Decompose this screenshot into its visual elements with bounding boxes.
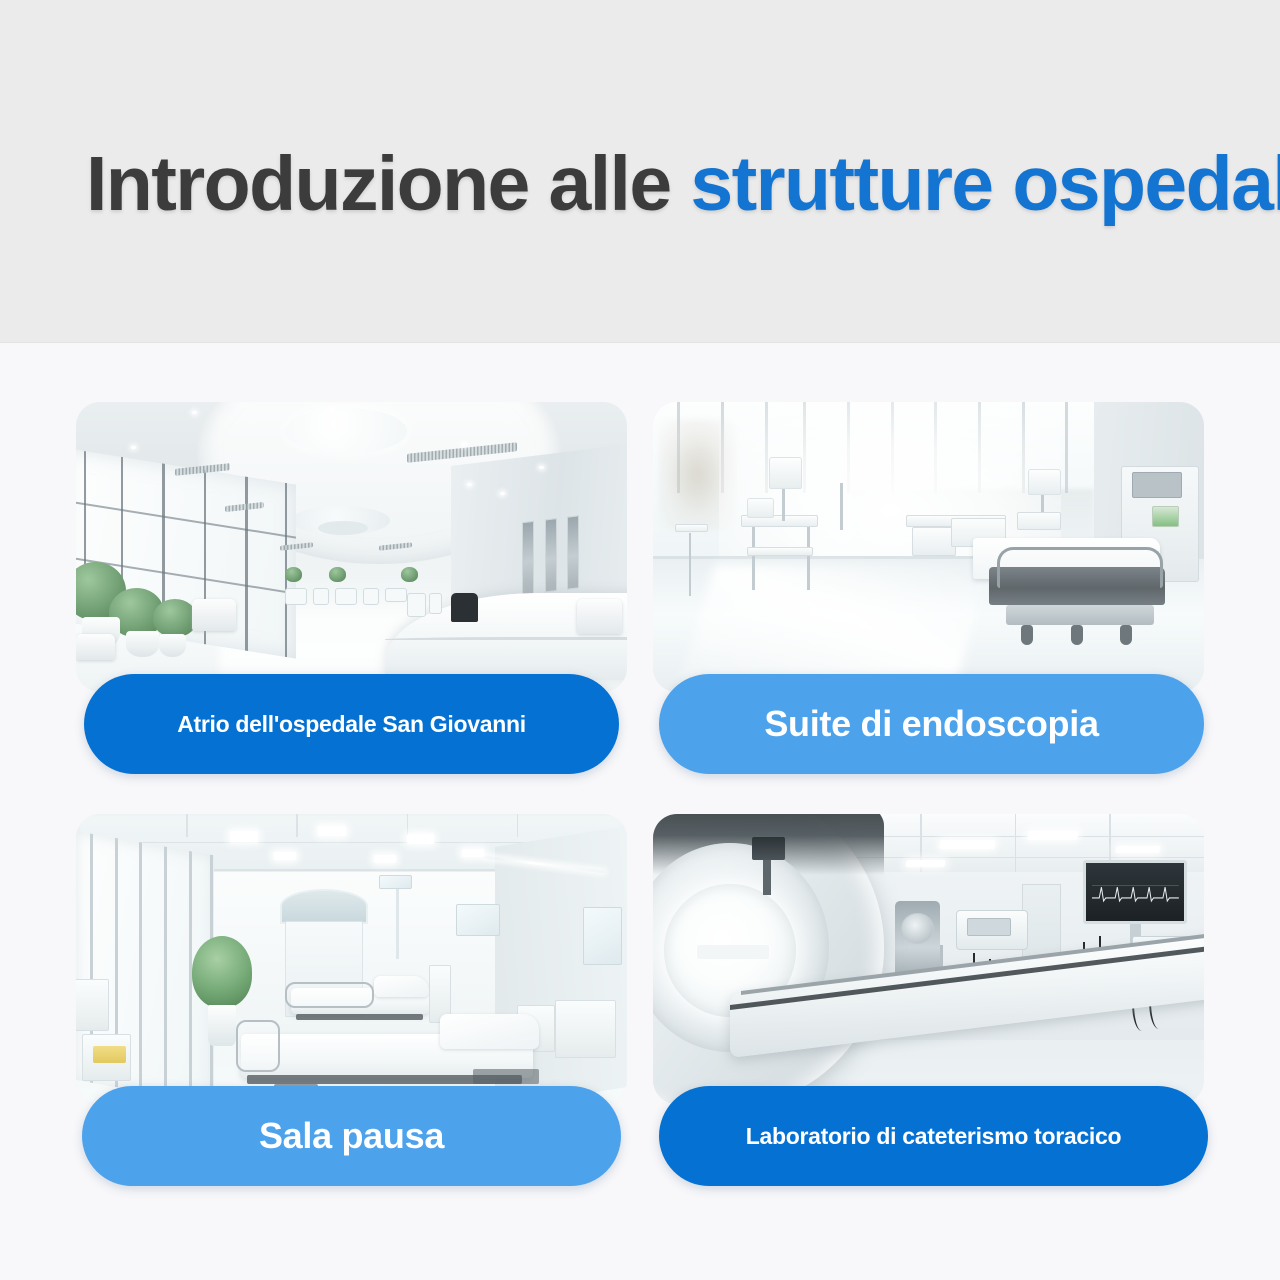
facility-label-pill[interactable]: Atrio dell'ospedale San Giovanni xyxy=(84,674,619,774)
ecg-waveform-icon xyxy=(1092,881,1179,904)
facility-label-text: Suite di endoscopia xyxy=(764,703,1098,745)
endoscopy-suite-photo xyxy=(653,402,1204,692)
facility-card-grid: Atrio dell'ospedale San Giovanni xyxy=(76,402,1204,1202)
facility-card[interactable]: Sala pausa xyxy=(76,814,627,1194)
break-room-photo xyxy=(76,814,627,1104)
facility-label-text: Laboratorio di cateterismo toracico xyxy=(746,1123,1121,1150)
header-band: Introduzione alle strutture ospedaliere xyxy=(0,0,1280,343)
facility-card[interactable]: Suite di endoscopia xyxy=(653,402,1204,782)
slide-root: Introduzione alle strutture ospedaliere xyxy=(0,0,1280,1280)
hospital-lobby-atrium-photo xyxy=(76,402,627,692)
facility-label-text: Atrio dell'ospedale San Giovanni xyxy=(177,711,526,738)
facility-label-pill[interactable]: Sala pausa xyxy=(82,1086,621,1186)
facility-label-pill[interactable]: Laboratorio di cateterismo toracico xyxy=(659,1086,1208,1186)
page-title: Introduzione alle strutture ospedaliere xyxy=(86,146,1246,223)
page-title-plain: Introduzione alle xyxy=(86,141,690,227)
facility-card[interactable]: Laboratorio di cateterismo toracico xyxy=(653,814,1204,1194)
facility-label-text: Sala pausa xyxy=(259,1115,444,1157)
facility-card[interactable]: Atrio dell'ospedale San Giovanni xyxy=(76,402,627,782)
thoracic-catheterization-lab-photo xyxy=(653,814,1204,1104)
facility-label-pill[interactable]: Suite di endoscopia xyxy=(659,674,1204,774)
page-title-accent: strutture ospedaliere xyxy=(690,141,1280,227)
